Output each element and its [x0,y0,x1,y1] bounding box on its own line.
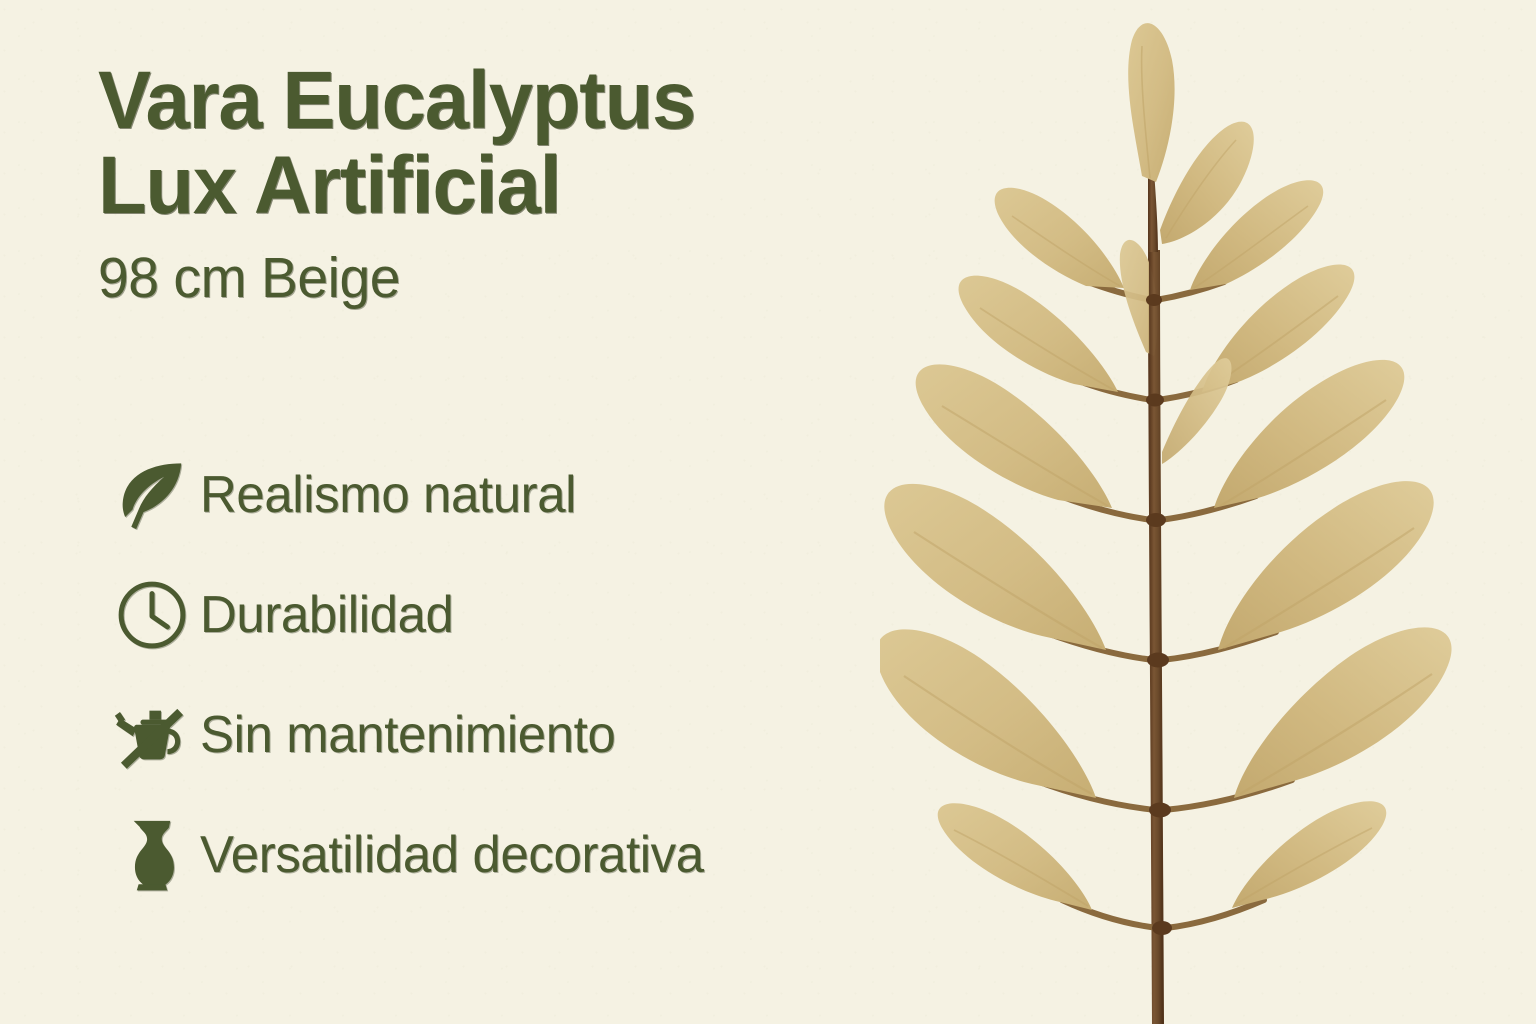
leaf [884,484,1106,650]
leaf [1218,481,1434,650]
leaf [995,188,1124,288]
feature-label-sin-mantenimiento: Sin mantenimiento [200,705,615,765]
feature-item-realismo: Realismo natural [104,435,934,555]
branch-stem-top [1148,170,1158,255]
leaf [1214,360,1404,508]
feature-label-versatilidad: Versatilidad decorativa [200,825,704,885]
feature-label-durabilidad: Durabilidad [200,585,453,645]
leaf-icon [104,447,200,543]
leaf [1232,801,1386,908]
feature-item-sin-mantenimiento: Sin mantenimiento [104,675,934,795]
feature-item-versatilidad: Versatilidad decorativa [104,795,934,915]
leaf [1162,358,1231,464]
eucalyptus-branch-image [880,0,1536,1024]
clock-icon [104,567,200,663]
branch-leaves [880,23,1452,910]
product-title-line-1: Vara Eucalyptus [98,58,893,143]
feature-item-durabilidad: Durabilidad [104,555,934,675]
product-subtitle: 98 cm Beige [98,249,893,309]
feature-list: Realismo natural Durabilidad [104,435,934,915]
leaf [880,629,1096,798]
leaf [1128,23,1174,182]
no-watering-can-icon [104,687,200,783]
vase-icon [104,807,200,903]
leaf [938,803,1092,910]
product-heading-block: Vara Eucalyptus Lux Artificial 98 cm Bei… [98,58,918,308]
leaf [916,364,1112,508]
leaf [959,276,1118,392]
feature-label-realismo: Realismo natural [200,465,576,525]
product-title-line-2: Lux Artificial [98,143,893,228]
product-banner: Vara Eucalyptus Lux Artificial 98 cm Bei… [0,0,1536,1024]
leaf [1234,627,1452,798]
